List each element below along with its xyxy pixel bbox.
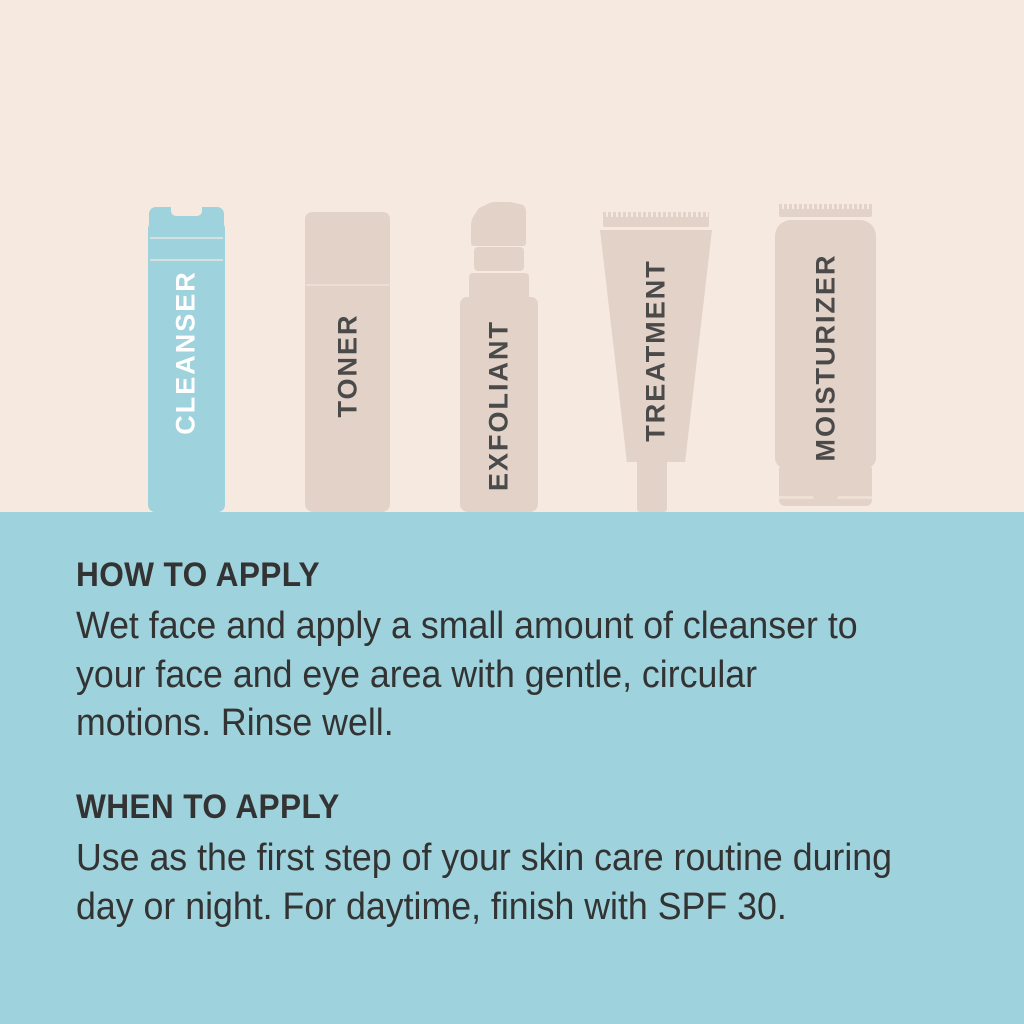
product-label-toner: TONER: [335, 268, 362, 464]
exfoliant-pump-neck: [474, 247, 524, 271]
when-to-apply-heading: WHEN TO APPLY: [76, 788, 887, 826]
exfoliant-pump-nozzle-icon: [471, 202, 526, 246]
treatment-crimp-teeth-icon: [603, 212, 709, 217]
moisturizer-cap-notch-icon: [813, 496, 838, 502]
product-label-exfoliant: EXFOLIANT: [486, 302, 513, 510]
product-moisturizer[interactable]: MOISTURIZER: [775, 204, 876, 512]
cleanser-cap-notch-icon: [171, 207, 202, 216]
instructions-panel: HOW TO APPLY Wet face and apply a small …: [0, 512, 1024, 1024]
product-label-treatment: TREATMENT: [643, 233, 670, 469]
section-spacer: [76, 748, 948, 788]
product-treatment[interactable]: TREATMENT: [600, 212, 712, 512]
infographic-canvas: CLEANSER TONER EXFOLIANT TREATMENT: [0, 0, 1024, 1024]
when-to-apply-body: Use as the first step of your skin care …: [76, 834, 896, 931]
moisturizer-crimp-teeth-icon: [779, 204, 872, 209]
product-cleanser[interactable]: CLEANSER: [148, 207, 225, 512]
cleanser-cap-divider-line: [150, 237, 223, 239]
product-exfoliant[interactable]: EXFOLIANT: [460, 202, 538, 512]
product-lineup: CLEANSER TONER EXFOLIANT TREATMENT: [0, 0, 1024, 512]
product-toner[interactable]: TONER: [305, 212, 390, 512]
how-to-apply-body: Wet face and apply a small amount of cle…: [76, 602, 896, 748]
how-to-apply-heading: HOW TO APPLY: [76, 556, 887, 594]
product-label-moisturizer: MOISTURIZER: [813, 235, 840, 481]
exfoliant-pump-collar: [469, 273, 529, 300]
product-label-cleanser: CLEANSER: [173, 253, 200, 453]
